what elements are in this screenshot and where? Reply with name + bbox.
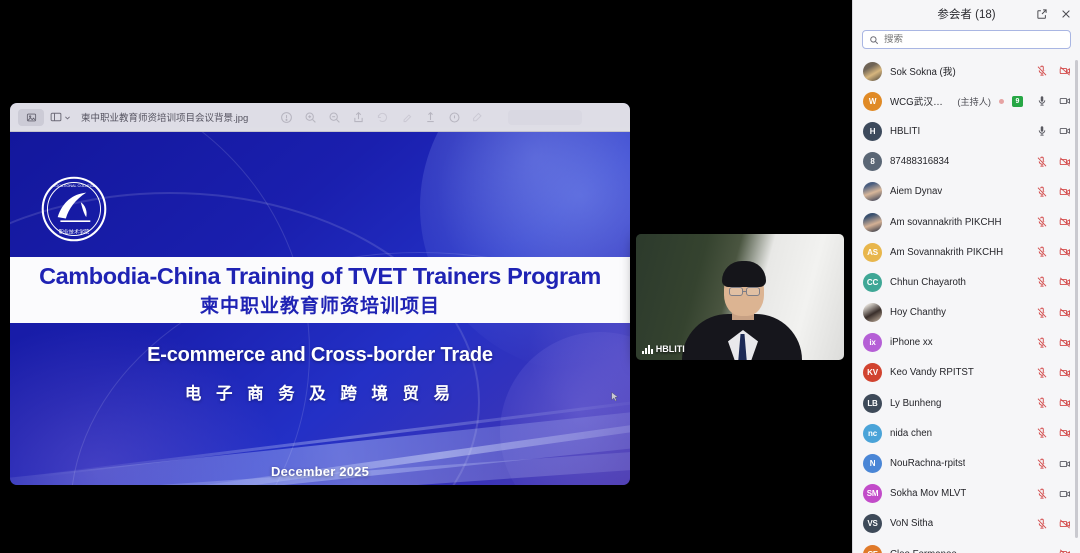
camera-icon[interactable] [1059,488,1071,500]
presenter-glasses-bridge [742,291,747,292]
avatar: LB [863,394,882,413]
rotate-icon[interactable] [376,111,389,124]
participant-row[interactable]: Am sovannakrith PIKCHH [853,207,1080,237]
participant-row[interactable]: Hoy Chanthy [853,298,1080,328]
participant-status-icons [1031,216,1071,228]
participant-row[interactable]: Sok Sokna (我) [853,56,1080,86]
avatar: N [863,454,882,473]
participant-video-tile[interactable]: HBLITI [636,234,844,360]
participants-scrollbar[interactable] [1075,60,1078,538]
participants-list[interactable]: Sok Sokna (我) WWCG武汉中部...(主持人)9 HHBLITI … [853,56,1080,553]
mic-muted-icon[interactable] [1036,397,1048,409]
camera-muted-icon[interactable] [1059,427,1071,439]
video-tile-label: HBLITI [642,344,685,354]
slide-date: December 2025 [10,464,630,479]
zoom-out-icon[interactable] [328,111,341,124]
participants-title: 参会者 (18) [937,6,995,22]
highlight-icon[interactable] [400,111,413,124]
mic-muted-icon[interactable] [1036,458,1048,470]
participant-name: Keo Vandy RPITST [890,367,974,378]
sidebar-toggle-icon[interactable] [50,111,71,123]
participant-row[interactable]: CCChhun Chayaroth [853,267,1080,297]
mic-icon[interactable] [1036,125,1048,137]
video-tile-name: HBLITI [656,344,685,354]
slide-title-english: Cambodia-China Training of TVET Trainers… [39,263,601,290]
participant-row[interactable]: SMSokha Mov MLVT [853,479,1080,509]
mic-muted-icon[interactable] [1036,488,1048,500]
info-icon[interactable] [448,111,461,124]
share-icon[interactable] [352,111,365,124]
preview-thumbnail-button[interactable] [18,109,44,126]
avatar: H [863,122,882,141]
participant-name: Chhun Chayaroth [890,277,966,288]
participant-status-icons [1031,125,1071,137]
participant-name: HBLITI [890,126,920,137]
avatar: AS [863,243,882,262]
preview-search-field[interactable] [508,110,582,125]
zoom-in-icon[interactable] [304,111,317,124]
mic-muted-icon[interactable] [1036,156,1048,168]
participant-row[interactable]: KVKeo Vandy RPITST [853,358,1080,388]
slide-title-chinese: 柬中职业教育师资培训项目 [200,291,440,318]
mic-muted-icon[interactable] [1036,246,1048,258]
participant-name: VoN Sitha [890,518,933,529]
meeting-screen: 柬中职业教育师资培训项目会议背景.jpg [0,0,1080,553]
participant-status-icons [1031,65,1071,77]
slide-subtitle-english: E-commerce and Cross-border Trade [10,344,630,367]
camera-muted-icon[interactable] [1059,518,1071,530]
participant-status-icons [1054,548,1071,553]
avatar: CF [863,545,882,553]
avatar [863,213,882,232]
camera-muted-icon[interactable] [1059,397,1071,409]
close-icon[interactable] [1060,8,1072,20]
camera-icon[interactable] [1059,458,1071,470]
participant-name: nida chen [890,428,932,439]
participants-header: 参会者 (18) [853,0,1080,28]
camera-muted-icon[interactable] [1059,156,1071,168]
participant-row[interactable]: HHBLITI [853,116,1080,146]
avatar: CC [863,273,882,292]
mic-muted-icon[interactable] [1036,367,1048,379]
institution-seal-logo: 职业技术学院 VOCATIONAL COLLEGE [40,175,108,243]
preview-toolbar [280,110,582,125]
mic-muted-icon[interactable] [1036,216,1048,228]
avatar: nc [863,424,882,443]
participant-row[interactable]: ixiPhone xx [853,328,1080,358]
mic-muted-icon[interactable] [1036,427,1048,439]
presenter-glasses [729,287,743,296]
camera-muted-icon[interactable] [1059,216,1071,228]
presentation-slide: 职业技术学院 VOCATIONAL COLLEGE Cambodia-China… [10,132,630,485]
participant-status-icons [1031,458,1071,470]
participant-status-icons [1031,246,1071,258]
participant-status-icons [1031,367,1071,379]
participant-row[interactable]: ncnida chen [853,418,1080,448]
participant-status-icons [1031,397,1071,409]
camera-icon[interactable] [1059,95,1071,107]
participant-status-icons [1031,95,1071,107]
participant-name: Sokha Mov MLVT [890,488,966,499]
camera-muted-icon[interactable] [1059,276,1071,288]
avatar [863,303,882,322]
participant-name: NouRachna-rpitst [890,458,965,469]
image-preview-window: 柬中职业教育师资培训项目会议背景.jpg [10,103,630,485]
participant-row[interactable]: WWCG武汉中部...(主持人)9 [853,86,1080,116]
search-input[interactable] [884,34,1064,45]
participant-name: iPhone xx [890,337,933,348]
participant-status-icons [1031,186,1071,198]
participants-panel: 参会者 (18) Sok Sokna (我) [852,0,1080,553]
avatar: VS [863,514,882,533]
mic-muted-icon[interactable] [1036,65,1048,77]
camera-muted-icon[interactable] [1059,186,1071,198]
participant-name: Ly Bunheng [890,398,941,409]
mic-muted-icon[interactable] [1036,518,1048,530]
camera-muted-icon[interactable] [1059,246,1071,258]
search-box[interactable] [862,30,1071,49]
camera-muted-icon[interactable] [1059,548,1071,553]
participant-name: Am sovannakrith PIKCHH [890,217,1001,228]
participant-name: Am Sovannakrith PIKCHH [890,247,1003,258]
avatar: ix [863,333,882,352]
avatar: 8 [863,152,882,171]
search-icon [869,35,879,45]
avatar: SM [863,484,882,503]
participant-name: WCG武汉中部... [890,94,949,108]
mic-icon[interactable] [1036,95,1048,107]
mic-muted-icon[interactable] [1036,337,1048,349]
participant-status-icons [1031,518,1071,530]
participant-status-icons [1031,156,1071,168]
avatar: W [863,92,882,111]
participant-status-icons [1031,337,1071,349]
avatar [863,62,882,81]
participant-status-icons [1031,488,1071,500]
markup-icon[interactable] [280,111,293,124]
svg-text:VOCATIONAL COLLEGE: VOCATIONAL COLLEGE [53,184,96,188]
audio-level-icon [642,345,653,354]
avatar: KV [863,363,882,382]
participants-search-wrap [853,28,1080,56]
participant-badge: 9 [1012,96,1023,107]
slide-subtitle-chinese: 电 子 商 务 及 跨 境 贸 易 [10,380,630,404]
annotate-icon[interactable] [472,111,485,124]
participant-name: Sok Sokna (我) [890,64,956,78]
presenter-glasses [746,287,760,296]
participant-row[interactable]: VSVoN Sitha [853,509,1080,539]
participant-row[interactable]: LBLy Bunheng [853,388,1080,418]
mouse-cursor [611,391,619,403]
slide-title-band: Cambodia-China Training of TVET Trainers… [10,257,630,323]
mic-muted-icon[interactable] [1036,186,1048,198]
participant-status-icons [1031,427,1071,439]
participant-row[interactable]: 887488316834 [853,147,1080,177]
participant-row[interactable]: Aiem Dynav [853,177,1080,207]
participant-status-icons [1031,276,1071,288]
svg-text:职业技术学院: 职业技术学院 [59,228,90,235]
participant-row[interactable]: CFCleo Fermanee [853,539,1080,553]
mic-muted-icon[interactable] [1036,307,1048,319]
camera-muted-icon[interactable] [1059,307,1071,319]
preview-titlebar: 柬中职业教育师资培训项目会议背景.jpg [10,103,630,132]
mic-muted-icon[interactable] [1036,276,1048,288]
host-label: (主持人) [957,94,991,108]
participant-status-icons [1031,307,1071,319]
camera-muted-icon[interactable] [1059,337,1071,349]
camera-muted-icon[interactable] [1059,65,1071,77]
recording-dot [999,99,1004,104]
participant-name: Hoy Chanthy [890,307,946,318]
participant-name: Aiem Dynav [890,186,942,197]
preview-filename: 柬中职业教育师资培训项目会议背景.jpg [81,110,248,124]
pop-out-icon[interactable] [1036,8,1048,20]
camera-icon[interactable] [1059,125,1071,137]
avatar [863,182,882,201]
participant-name: 87488316834 [890,156,949,167]
participant-name: Cleo Fermanee [890,549,957,553]
sign-icon[interactable] [424,111,437,124]
camera-muted-icon[interactable] [1059,367,1071,379]
participants-header-actions [1036,0,1072,28]
participant-row[interactable]: NNouRachna-rpitst [853,448,1080,478]
participant-row[interactable]: ASAm Sovannakrith PIKCHH [853,237,1080,267]
